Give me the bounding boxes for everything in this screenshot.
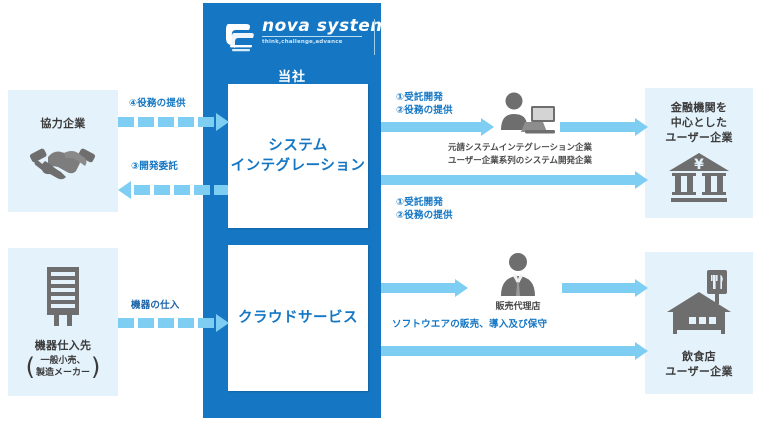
logo-divider: [262, 36, 362, 37]
flow-label-supplier-to-cloud: 機器の仕入: [131, 299, 180, 312]
logo-tagline-text: think,challenge,advance: [262, 39, 372, 45]
sales-agency-caption: 販売代理店: [470, 299, 566, 312]
flow-label-upper-line2: ②役務の提供: [396, 104, 453, 117]
person-at-laptop-icon: [487, 92, 559, 142]
logo-vertical-rule: [374, 19, 375, 55]
nova-system-logo: nova system think,challenge,advance: [222, 17, 372, 59]
paren-open: (: [26, 357, 35, 377]
page-title: 当社: [203, 66, 381, 85]
diagram-canvas: nova system think,challenge,advance 当社 シ…: [0, 0, 760, 421]
handshake-icon: [28, 137, 98, 187]
entity-partner-label: 協力企業: [40, 116, 85, 131]
card-title-line1: システム: [231, 136, 366, 156]
flow-prime-to-finance-body: [560, 122, 635, 132]
flow-label-upper-line1: ①受託開発: [396, 91, 443, 104]
entity-food-line2: ユーザー企業: [665, 364, 733, 379]
entity-supplier-label: 機器仕入先: [35, 338, 92, 353]
paren-close: ): [91, 357, 100, 377]
flow-label-lower-line1: ①受託開発: [396, 196, 443, 209]
entity-finance-line2: 中心とした: [665, 115, 733, 130]
flow-agency-to-food-body: [562, 283, 635, 293]
flow-label-software-sales: ソフトウエアの販売、導入及び保守: [392, 318, 547, 331]
entity-partner-company: 協力企業: [8, 90, 118, 212]
entity-finance-line1: 金融機関を: [665, 100, 733, 115]
flow-agency-to-food-head: [635, 279, 648, 297]
flow-label-si-to-partner: ③開発委託: [131, 160, 178, 173]
entity-restaurant-user-company: 飲食店 ユーザー企業: [645, 252, 753, 394]
flow-label-partner-to-si: ④役務の提供: [129, 97, 186, 110]
prime-contractor-caption-line2: ユーザー企業系列のシステム開発企業: [420, 155, 620, 167]
entity-supplier-sub-line2: 製造メーカー: [36, 367, 90, 379]
card-title-line1: クラウドサービス: [238, 308, 358, 328]
nova-logo-mark-icon: [222, 21, 256, 53]
entity-food-line1: 飲食店: [665, 349, 733, 364]
card-title-line2: インテグレーション: [231, 156, 366, 176]
building-icon: [39, 265, 87, 331]
logo-name-text: nova system: [262, 17, 372, 35]
sales-agent-icon: [492, 252, 544, 302]
entity-supplier-sub-line1: 一般小売、: [36, 355, 90, 367]
service-card-cloud-service: クラウドサービス: [228, 245, 368, 391]
flow-prime-to-finance-head: [635, 118, 648, 136]
entity-finance-line3: ユーザー企業: [665, 130, 733, 145]
entity-financial-user-company: 金融機関を 中心とした ユーザー企業 ¥: [645, 88, 753, 218]
nova-logo-wordmark: nova system think,challenge,advance: [262, 17, 372, 57]
svg-text:¥: ¥: [694, 157, 704, 173]
bank-icon: ¥: [666, 151, 732, 207]
restaurant-icon: [663, 268, 735, 342]
flow-label-lower-line2: ②役務の提供: [396, 209, 453, 222]
prime-contractor-caption-line1: 元請システムインテグレーション企業: [420, 142, 620, 154]
service-card-system-integration: システム インテグレーション: [228, 84, 368, 228]
entity-equipment-supplier: 機器仕入先 ( 一般小売、 製造メーカー ): [8, 248, 118, 396]
